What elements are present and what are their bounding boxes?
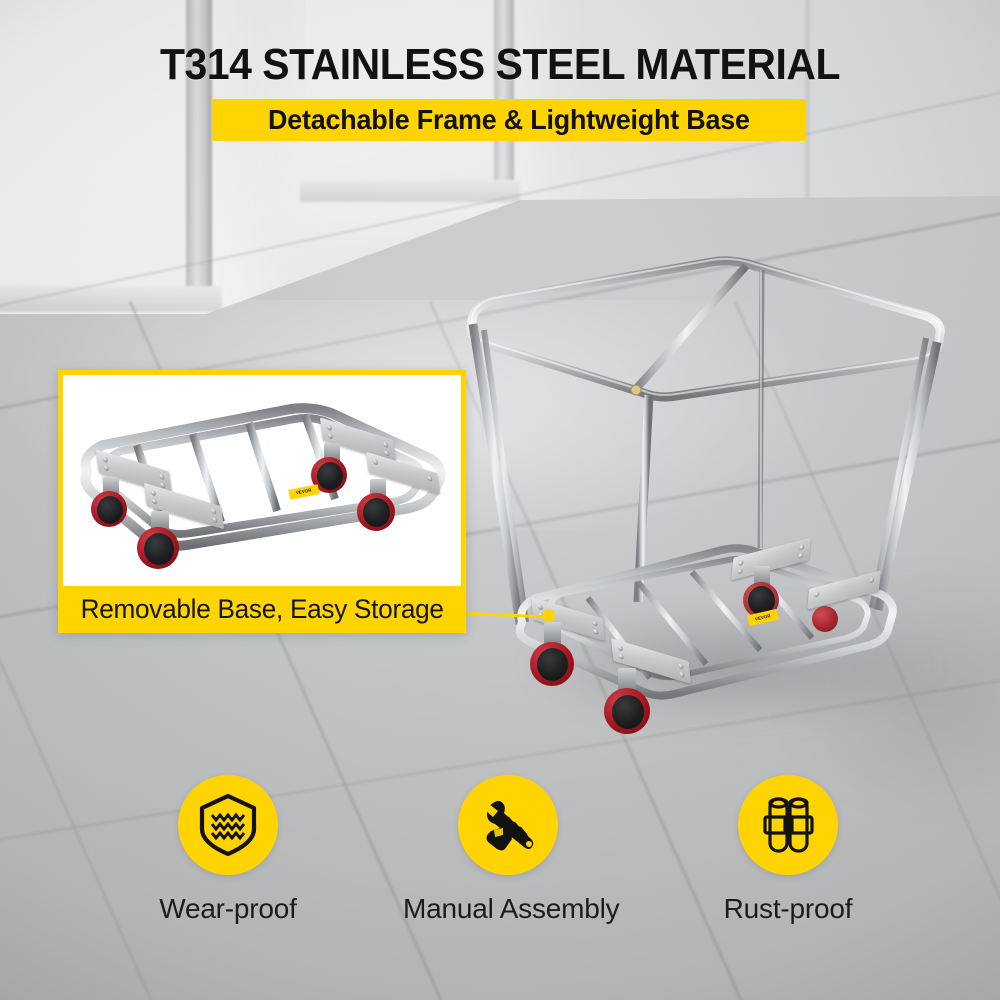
cart-rivet <box>631 385 641 395</box>
feature-label: Manual Assembly <box>403 893 613 925</box>
product-marketing-image: VEVOR T314 STAINLESS STEEL MATERIAL Deta… <box>0 0 1000 1000</box>
inset-caption-text: Removable Base, Easy Storage <box>80 594 443 625</box>
inset-caption: Removable Base, Easy Storage <box>58 586 466 633</box>
wall-corner <box>806 0 809 220</box>
feature-rust-proof: Rust-proof <box>683 775 893 925</box>
inset-product-image: VEVOR <box>63 375 461 586</box>
page-title: T314 STAINLESS STEEL MATERIAL <box>35 40 965 90</box>
shield-wave-icon <box>197 793 259 857</box>
vevor-label-text: VEVOR <box>296 488 313 496</box>
inset-callout: VEVOR Removable Base, Easy Storage <box>58 370 466 633</box>
cart-leg-front-left <box>473 324 520 624</box>
feature-icon-badge <box>738 775 838 875</box>
feature-icon-badge <box>178 775 278 875</box>
cart-leg-rear-mid-back <box>760 270 762 548</box>
cart-top-rim <box>471 261 940 397</box>
subtitle-banner: Detachable Frame & Lightweight Base <box>212 99 806 141</box>
wrench-hand-icon <box>476 793 540 857</box>
feature-icon-badge <box>458 775 558 875</box>
cart-leg-back-right <box>878 342 937 610</box>
window-frame-right <box>494 0 514 190</box>
callout-anchor-dot <box>542 609 555 622</box>
pipes-icon <box>757 793 819 857</box>
cart-top-divider <box>635 266 746 390</box>
cart-leg-front-left-back <box>484 330 526 622</box>
feature-label: Wear-proof <box>123 893 333 925</box>
subtitle-text: Detachable Frame & Lightweight Base <box>268 104 750 136</box>
feature-row: Wear-proof <box>0 772 1000 932</box>
feature-label: Rust-proof <box>683 893 893 925</box>
dolly-slat <box>249 423 277 511</box>
cart-top-rim-highlight <box>471 259 940 395</box>
cart-leg-back-right-back <box>872 338 926 608</box>
window-sill-right <box>300 180 520 202</box>
main-product-image: VEVOR <box>460 250 980 720</box>
feature-manual-assembly: Manual Assembly <box>403 775 613 925</box>
feature-wear-proof: Wear-proof <box>123 775 333 925</box>
vevor-label-text: VEVOR <box>755 613 772 622</box>
